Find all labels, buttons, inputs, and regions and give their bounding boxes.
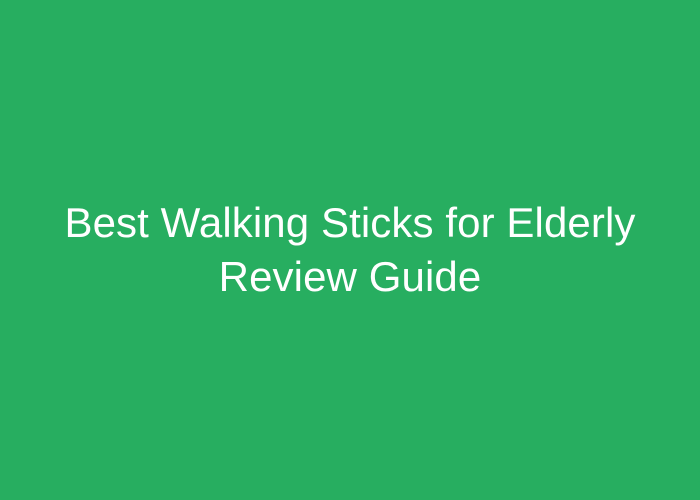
banner-content: Best Walking Sticks for Elderly Review G… bbox=[0, 196, 700, 304]
page-title: Best Walking Sticks for Elderly Review G… bbox=[56, 196, 644, 304]
featured-image-banner: Best Walking Sticks for Elderly Review G… bbox=[0, 0, 700, 500]
